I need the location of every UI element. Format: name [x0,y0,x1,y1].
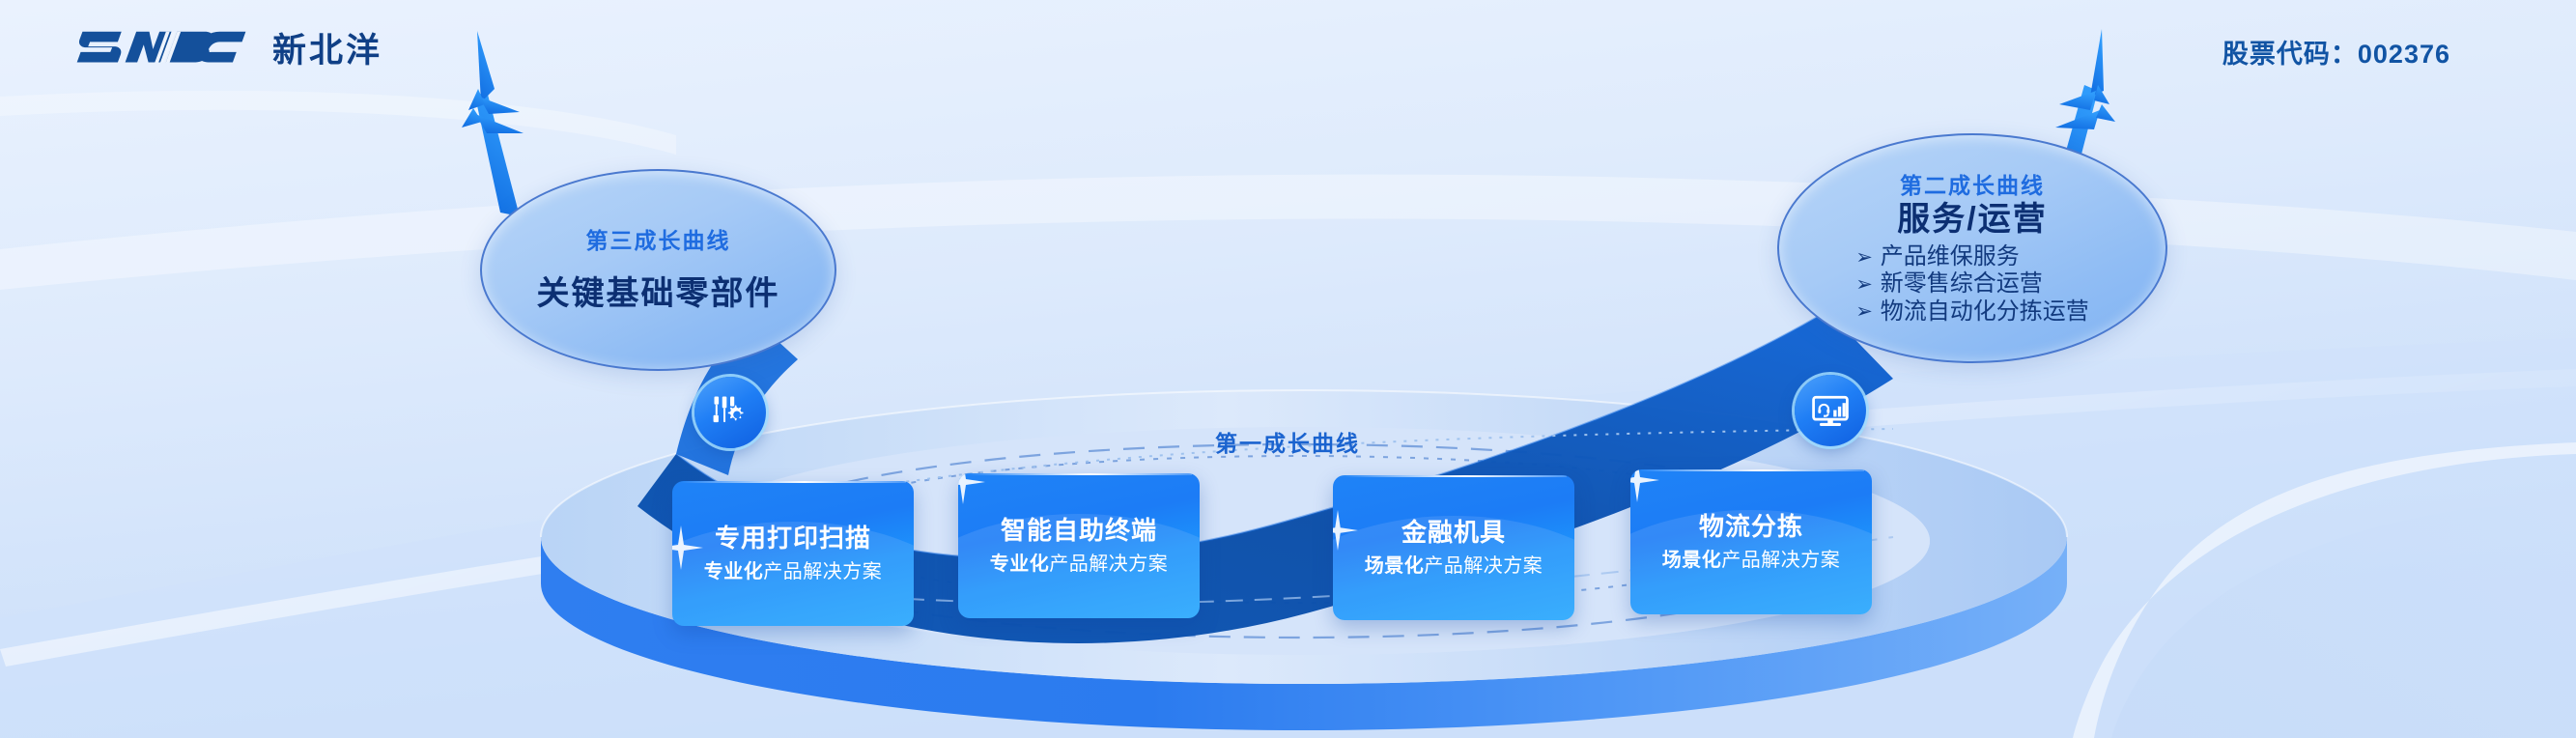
card-subtitle-strong: 专业化 [990,553,1050,575]
list-item-label: 产品维保服务 [1881,243,2020,270]
bubble-kicker: 第三成长曲线 [586,230,731,252]
card-subtitle: 专业化产品解决方案 [704,562,883,582]
card-top-highlight [680,481,906,483]
service-items-list: ➢ 产品维保服务 ➢ 新零售综合运营 ➢ 物流自动化分拣运营 [1855,243,2089,326]
card-subtitle: 场景化产品解决方案 [1365,556,1543,576]
card-subtitle-rest: 产品解决方案 [1721,550,1840,571]
second-growth-curve-bubble[interactable]: 第二成长曲线 服务/运营 ➢ 产品维保服务 ➢ 新零售综合运营 ➢ 物流自动化分… [1777,133,2167,363]
monitor-headset-chart-icon[interactable] [1795,375,1866,446]
card-title: 物流分拣 [1699,514,1803,539]
product-card-printing-scanning[interactable]: 专用打印扫描 专业化产品解决方案 [672,481,914,626]
card-top-highlight [966,473,1192,475]
monitor-headset-chart-glyph [1809,389,1852,432]
bubble-title: 关键基础零部件 [537,277,780,310]
list-item-label: 物流自动化分拣运营 [1881,298,2089,326]
card-subtitle-strong: 场景化 [1365,555,1425,577]
arrow-bullet-icon: ➢ [1855,301,1873,322]
arrow-bullet-icon: ➢ [1855,247,1873,268]
sparkle-icon [1630,469,1659,502]
card-top-highlight [1341,475,1567,477]
sliders-gear-icon[interactable] [694,377,766,448]
sliders-gear-glyph [709,391,751,434]
first-growth-curve-label: 第一成长曲线 [1215,425,1360,458]
card-subtitle-rest: 产品解决方案 [1049,553,1168,575]
sparkle-icon [958,473,985,504]
card-title: 智能自助终端 [1001,518,1157,543]
sparkle-icon [672,525,703,570]
card-title: 专用打印扫描 [715,525,871,551]
card-subtitle-rest: 产品解决方案 [763,561,882,582]
list-item: ➢ 产品维保服务 [1855,243,2089,270]
card-subtitle: 场景化产品解决方案 [1662,551,1841,570]
card-top-highlight [1638,469,1864,471]
infographic-canvas: 新北洋 股票代码：002376 [0,0,2576,738]
bubble-title: 服务/运营 [1897,203,2047,236]
third-growth-curve-bubble[interactable]: 第三成长曲线 关键基础零部件 [480,169,836,371]
card-subtitle-rest: 产品解决方案 [1424,555,1543,577]
product-card-self-service-terminal[interactable]: 智能自助终端 专业化产品解决方案 [958,473,1200,618]
product-card-logistics-sorting[interactable]: 物流分拣 场景化产品解决方案 [1630,469,1872,614]
list-item: ➢ 新零售综合运营 [1855,270,2089,298]
bubble-kicker: 第二成长曲线 [1900,175,2045,197]
card-subtitle: 专业化产品解决方案 [990,554,1169,574]
arrow-bullet-icon: ➢ [1855,274,1873,295]
list-item-label: 新零售综合运营 [1881,270,2043,298]
card-subtitle-strong: 专业化 [704,561,764,582]
card-title: 金融机具 [1401,520,1506,545]
list-item: ➢ 物流自动化分拣运营 [1855,298,2089,326]
product-card-financial-equipment[interactable]: 金融机具 场景化产品解决方案 [1333,475,1574,620]
sparkle-icon [1333,510,1358,551]
card-subtitle-strong: 场景化 [1662,550,1722,571]
